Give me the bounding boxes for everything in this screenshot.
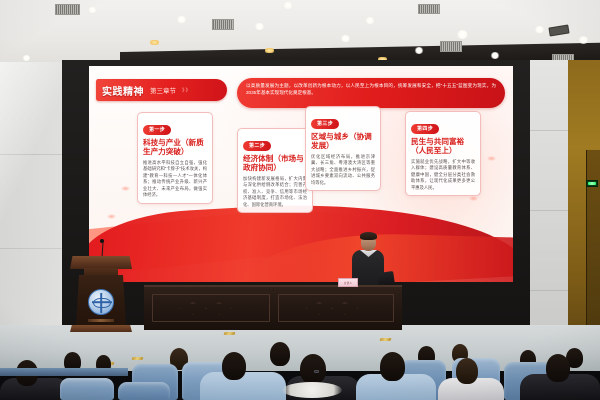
slide-card-step-2: 第二步 经济体制（市场与政府协同） 加快构建新发展格局，扩大内需与深化供给侧改革… xyxy=(237,128,313,213)
downlight xyxy=(578,36,589,44)
lecture-hall-scene: 实践精神 第三章节 》》 以高质量发展为主题，以改革创新为根本动力，以人民至上为… xyxy=(0,0,600,400)
downlight xyxy=(22,55,31,61)
soffit-spotlight xyxy=(265,48,274,53)
ceiling-vent xyxy=(212,19,234,30)
university-crest-icon xyxy=(88,289,114,315)
petal-decor xyxy=(487,156,496,161)
card-title: 区域与城乡（协调发展） xyxy=(311,132,375,151)
downlight xyxy=(340,35,351,42)
fur-collar xyxy=(282,382,342,398)
soffit-spotlight xyxy=(150,40,159,45)
card-body: 推进高水平科技自立自强，强化基础研究和“卡脖子”技术攻关，构建“教育—科技—人才… xyxy=(143,160,207,199)
side-door[interactable] xyxy=(586,150,600,335)
ceiling-vent xyxy=(55,4,80,15)
audience-head xyxy=(380,352,405,381)
audience-head xyxy=(270,342,290,366)
step-badge: 第二步 xyxy=(243,141,271,151)
downlight xyxy=(88,7,97,13)
petal-decor xyxy=(469,196,478,201)
slide-title-tag: 实践精神 第三章节 》》 xyxy=(96,79,227,101)
downlight xyxy=(254,23,265,30)
head-table xyxy=(144,285,402,330)
left-marble-wall xyxy=(0,62,62,340)
card-title: 经济体制（市场与政府协同） xyxy=(243,154,307,173)
ceiling-vent xyxy=(440,41,462,52)
audience-head xyxy=(456,358,478,384)
petal-decor xyxy=(121,186,130,191)
auditorium-seat[interactable] xyxy=(60,378,114,400)
slide-card-step-1: 第一步 科技与产业（新质生产力突破） 推进高水平科技自立自强，强化基础研究和“卡… xyxy=(137,112,213,204)
speaker-name-placard: 主讲人 xyxy=(338,278,358,287)
card-body: 优化区域经济布局，推进京津冀、长三角、粤港澳大湾区等重大战略；全面推进乡村振兴，… xyxy=(311,154,375,186)
step-badge: 第三步 xyxy=(311,119,339,129)
step-badge: 第四步 xyxy=(411,124,439,134)
podium-base xyxy=(70,325,132,332)
floor-marker xyxy=(224,332,236,335)
exit-sign-icon xyxy=(586,180,598,187)
placard-text: 主讲人 xyxy=(344,281,352,285)
slide-main-title: 实践精神 xyxy=(102,83,144,98)
auditorium-seat[interactable] xyxy=(118,382,170,400)
right-marble-wall xyxy=(530,60,570,345)
slide-chapter-label: 第三章节 xyxy=(150,85,176,95)
downlight xyxy=(365,17,375,24)
slide-banner: 以高质量发展为主题，以改革创新为根本动力，以人民至上为根本目的，统筹发展和安全，… xyxy=(237,78,505,108)
downlight xyxy=(534,26,545,33)
speaker-hair xyxy=(360,232,377,240)
audience-head xyxy=(222,352,246,380)
podium-nameplate xyxy=(88,319,114,322)
petal-decor xyxy=(107,214,116,219)
card-body: 加快构建新发展格局，扩大内需与深化供给侧改革结合；完善产权、准入、竞争、信用等市… xyxy=(243,176,307,208)
card-title: 民生与共同富裕（人民至上） xyxy=(411,137,475,156)
slide-card-step-4: 第四步 民生与共同富裕（人民至上） 实施就业优先战略，扩大中等收入群体；建设高质… xyxy=(405,111,481,196)
downlight xyxy=(283,2,293,9)
hair-clip xyxy=(314,370,319,373)
step-badge: 第一步 xyxy=(143,125,171,135)
presentation-screen: 实践精神 第三章节 》》 以高质量发展为主题，以改革创新为根本动力，以人民至上为… xyxy=(89,66,513,282)
slide-title-dots: 》》 xyxy=(182,87,192,94)
downlight xyxy=(456,30,469,39)
podium-neck xyxy=(84,268,118,276)
slide-card-step-3: 第三步 区域与城乡（协调发展） 优化区域经济布局，推进京津冀、长三角、粤港澳大湾… xyxy=(305,106,381,191)
speaker-arm xyxy=(377,271,395,285)
downlight xyxy=(176,16,187,23)
downlight xyxy=(414,47,424,54)
card-body: 实施就业优先战略，扩大中等收入群体；建设高质量教育体系、健康中国，健全分层分类社… xyxy=(411,159,475,191)
audience-head xyxy=(546,354,570,382)
ceiling-vent xyxy=(418,4,440,14)
stage-front-edge xyxy=(0,368,128,376)
audience-head xyxy=(300,354,326,384)
downlight xyxy=(490,52,500,59)
card-title: 科技与产业（新质生产力突破） xyxy=(143,138,207,157)
